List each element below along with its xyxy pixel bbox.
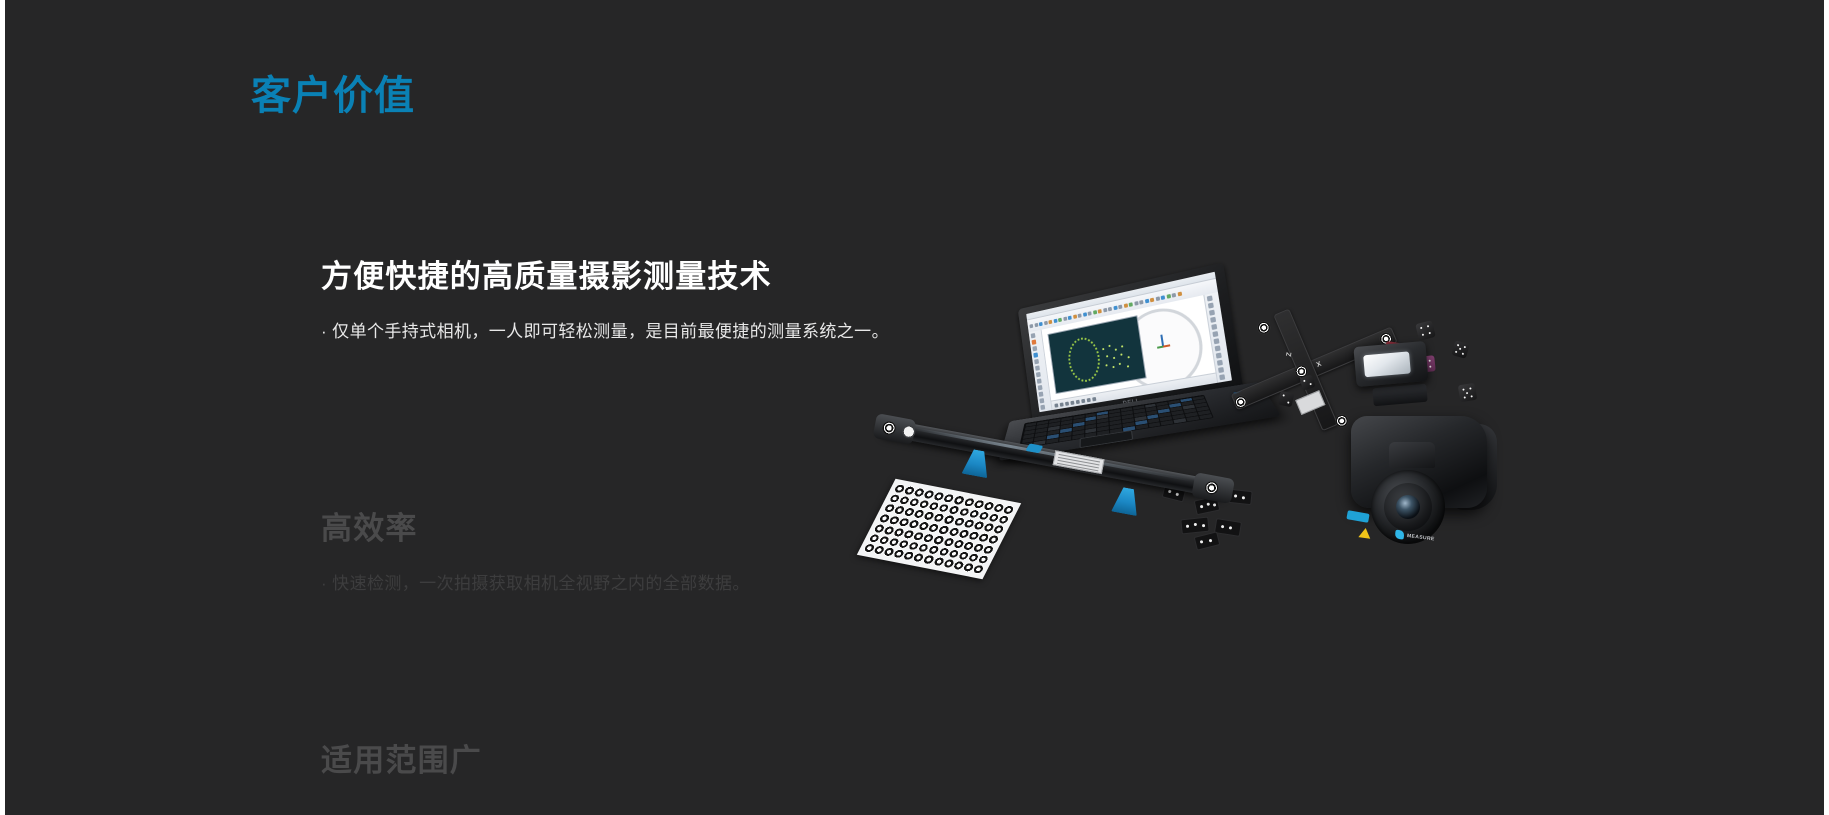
value-block-1-description: · 仅单个手持式相机，一人即可轻松测量，是目前最便捷的测量系统之一。 [321,319,1081,345]
coded-cube-target [1278,391,1295,408]
camera-lens-glass [1396,495,1420,519]
external-flash [1353,341,1428,387]
value-proposition-list: 方便快捷的高质量摄影测量技术 · 仅单个手持式相机，一人即可轻松测量，是目前最便… [321,0,1081,815]
product-photo: DELL [985,280,1545,580]
scale-bar-stand [1111,486,1141,516]
axis-label-z: Z [1286,351,1294,357]
flash-diffuser [1363,351,1411,377]
warning-triangle-icon [1358,527,1371,539]
point-cloud-view [1047,315,1146,394]
point-cloud-scatter [1100,340,1134,373]
value-block-3-title: 适用范围广 [321,742,1081,781]
value-block-1[interactable]: 方便快捷的高质量摄影测量技术 · 仅单个手持式相机，一人即可轻松测量，是目前最便… [321,258,1081,344]
value-block-1-title: 方便快捷的高质量摄影测量技术 [321,258,1081,297]
camera-hotshoe [1372,384,1427,407]
coded-cube-target [1451,340,1470,359]
adhesive-coded-marker [1194,531,1221,550]
camera-blue-accent [1346,510,1369,523]
coded-cube-target [1415,320,1436,341]
page-right-edge [1824,0,1829,815]
camera-body: MEASURE [1351,416,1487,508]
camera-pentaprism [1389,442,1435,468]
dark-content-stage: 客户价值 方便快捷的高质量摄影测量技术 · 仅单个手持式相机，一人即可轻松测量，… [5,0,1824,815]
dslr-camera: MEASURE [1341,372,1531,522]
point-cloud-ring [1066,335,1103,385]
coded-marker-dot [1257,321,1270,334]
brand-glyph-icon [1395,530,1405,540]
brand-wordmark: MEASURE [1407,533,1435,542]
camera-lens-barrel [1384,483,1432,531]
page-root: 客户价值 方便快捷的高质量摄影测量技术 · 仅单个手持式相机，一人即可轻松测量，… [0,0,1829,815]
value-block-3[interactable]: 适用范围广 [321,742,1081,781]
coordinate-axis-icon [1155,334,1169,350]
